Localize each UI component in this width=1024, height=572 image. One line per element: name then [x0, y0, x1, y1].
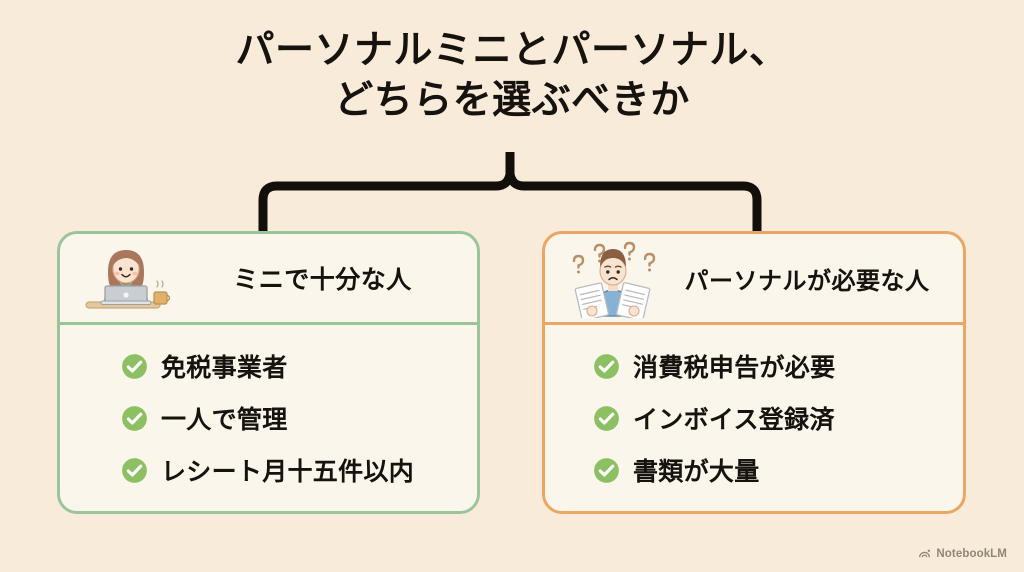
card-mini-list: 免税事業者 一人で管理 レシート月十五件以内: [60, 325, 477, 487]
card-personal-title: パーソナルが必要な人: [661, 261, 953, 296]
title-line-2: どちらを選ぶべきか: [0, 76, 1024, 126]
title-line-1: パーソナルミニとパーソナル、: [0, 26, 1024, 76]
card-personal-list: 消費税申告が必要 インボイス登録済 書類が大量: [545, 325, 963, 487]
watermark-label: NotebookLM: [936, 548, 1007, 560]
list-item: レシート月十五件以内: [121, 453, 477, 487]
card-mini-title: ミニで十分な人: [178, 260, 467, 296]
list-item-label: 消費税申告が必要: [633, 348, 835, 384]
list-item: インボイス登録済: [593, 401, 963, 435]
card-personal: パーソナルが必要な人 消費税申告が必要 インボイス登録済: [542, 231, 966, 514]
branch-connector: [250, 152, 770, 238]
list-item: 書類が大量: [593, 453, 963, 487]
list-item-label: 一人で管理: [161, 400, 288, 436]
list-item: 一人で管理: [121, 401, 477, 435]
page-title: パーソナルミニとパーソナル、 どちらを選ぶべきか: [0, 26, 1024, 126]
check-circle-icon: [593, 353, 620, 380]
card-mini-header: ミニで十分な人: [60, 234, 477, 325]
list-item-label: 免税事業者: [161, 348, 288, 384]
card-personal-header: パーソナルが必要な人: [545, 234, 963, 325]
check-circle-icon: [121, 405, 148, 432]
woman-at-laptop-icon: [74, 238, 178, 318]
check-circle-icon: [593, 457, 620, 484]
list-item-label: 書類が大量: [633, 452, 760, 488]
watermark: NotebookLM: [918, 547, 1007, 560]
check-circle-icon: [593, 405, 620, 432]
list-item: 消費税申告が必要: [593, 349, 963, 383]
confused-person-with-documents-icon: [565, 238, 661, 318]
list-item-label: インボイス登録済: [633, 400, 835, 436]
check-circle-icon: [121, 457, 148, 484]
slide-canvas: パーソナルミニとパーソナル、 どちらを選ぶべきか: [0, 0, 1024, 572]
check-circle-icon: [121, 353, 148, 380]
notebooklm-icon: [918, 547, 931, 560]
card-mini: ミニで十分な人 免税事業者 一人で管理: [57, 231, 480, 514]
list-item-label: レシート月十五件以内: [161, 452, 414, 488]
list-item: 免税事業者: [121, 349, 477, 383]
